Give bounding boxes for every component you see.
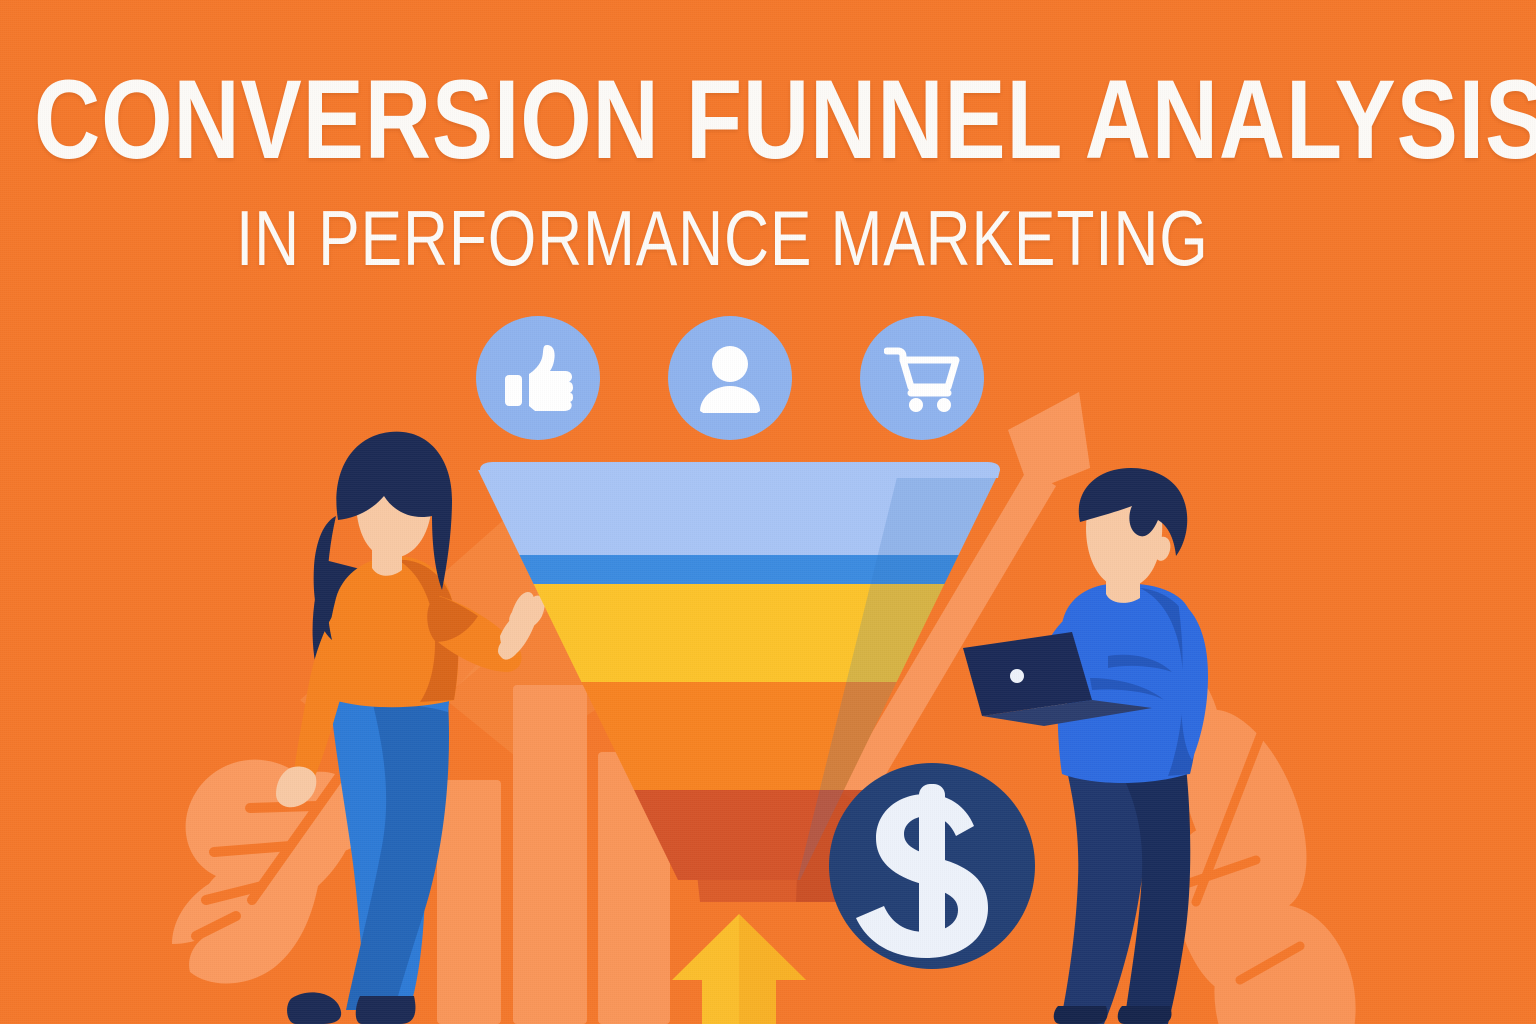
illustration-canvas: CONVERSION FUNNEL ANALYSIS IN PERFORMANC… [0, 0, 1536, 1024]
page-subtitle: IN PERFORMANCE MARKETING [236, 199, 1209, 277]
shopping-cart-icon [884, 343, 960, 413]
user-badge[interactable] [668, 316, 792, 440]
shopping-cart-badge[interactable] [860, 316, 984, 440]
thumbs-up-icon [501, 341, 575, 415]
page-title: CONVERSION FUNNEL ANALYSIS [34, 64, 1536, 176]
thumbs-up-badge[interactable] [476, 316, 600, 440]
user-icon [695, 343, 765, 413]
